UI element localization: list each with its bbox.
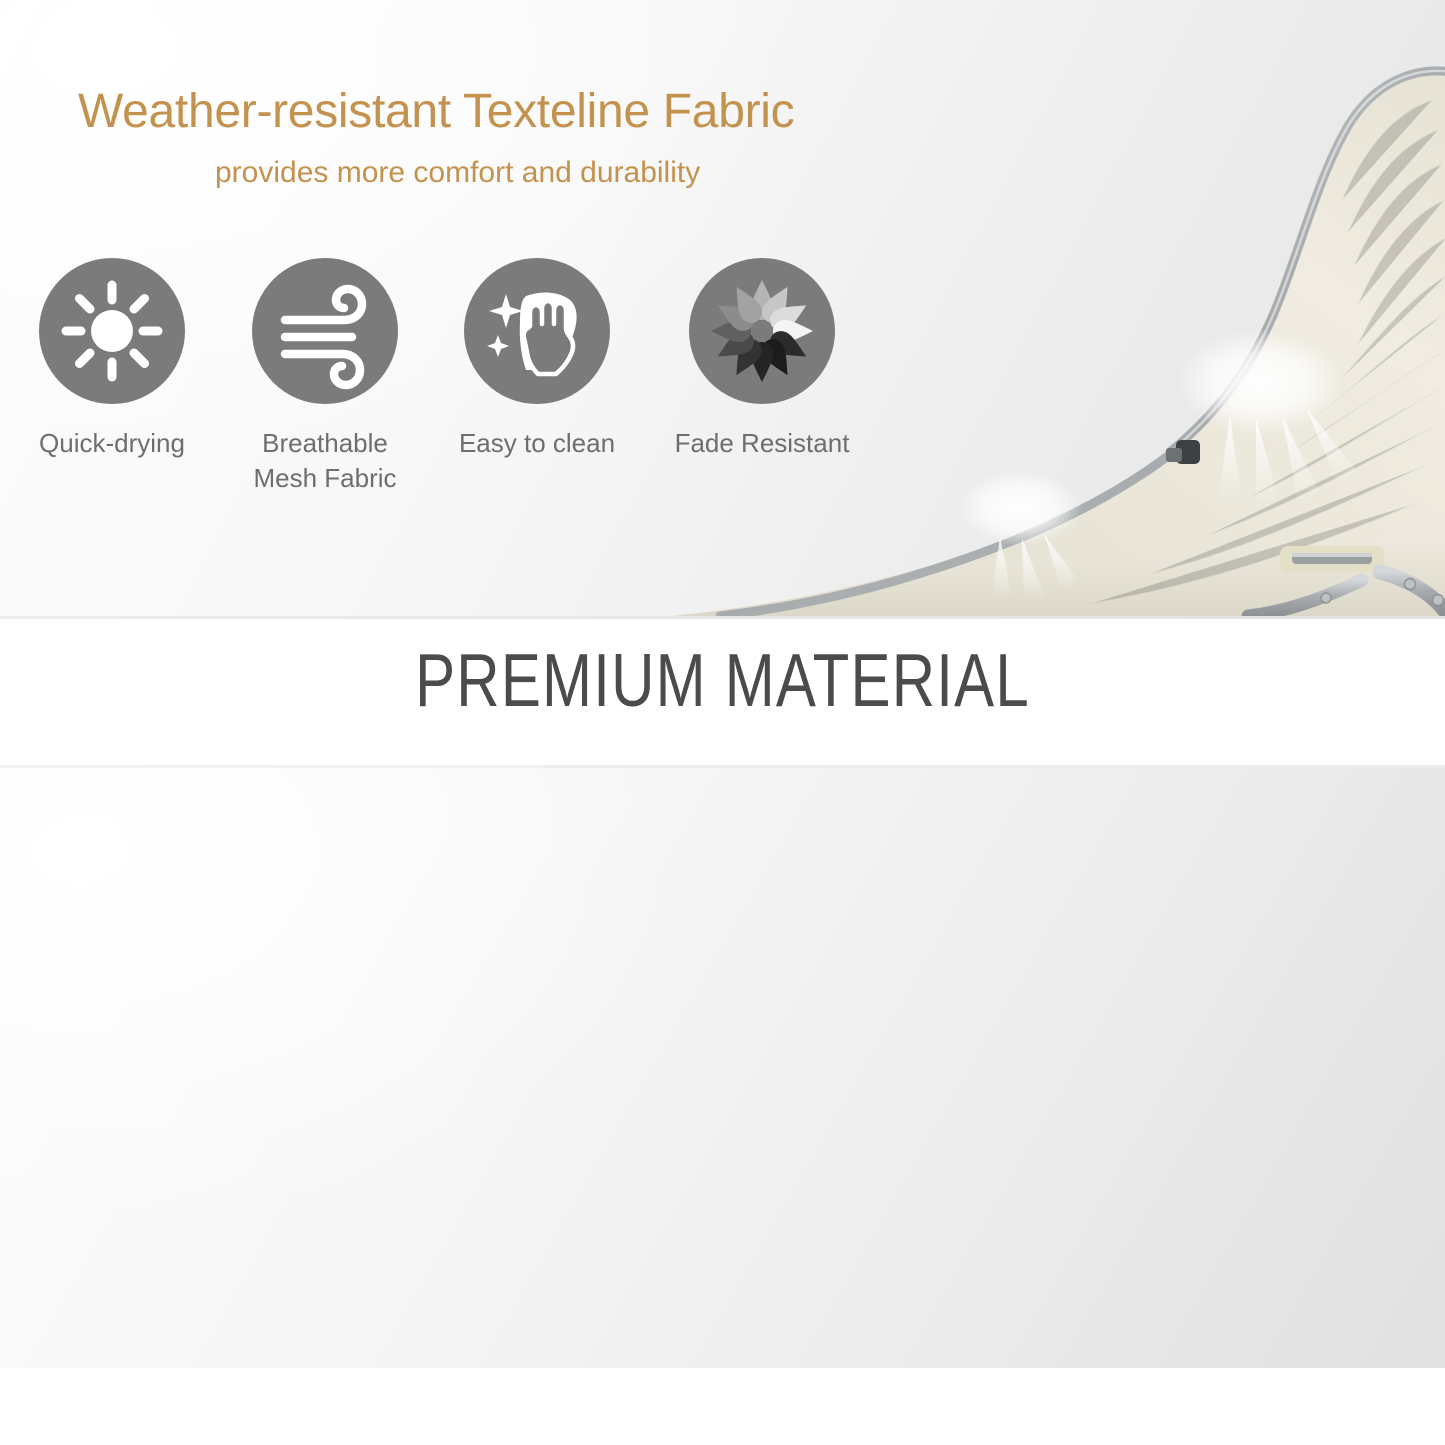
banner-title: PREMIUM MATERIAL — [145, 637, 1301, 723]
section-frame: Durable Aluminum Frame for easy carry an… — [0, 768, 1445, 1368]
sun-icon — [39, 258, 185, 404]
feature-easy-to-clean[interactable]: Easy to clean — [447, 258, 627, 461]
section-fabric: Weather-resistant Texteline Fabric provi… — [0, 0, 1445, 616]
fabric-subline: provides more comfort and durability — [215, 156, 700, 190]
hand-wipe-sparkle-icon — [464, 258, 610, 404]
fabric-headline: Weather-resistant Texteline Fabric — [78, 84, 794, 139]
page-footer-space — [0, 1368, 1445, 1445]
feature-label: Fade Resistant — [672, 426, 852, 461]
fabric-feature-row: Quick-drying Breathab — [0, 258, 900, 518]
feature-label: Easy to clean — [447, 426, 627, 461]
infographic-page: Weather-resistant Texteline Fabric provi… — [0, 0, 1445, 1445]
feature-label: Quick-drying — [22, 426, 202, 461]
feature-fade-resistant[interactable]: Fade Resistant — [672, 258, 852, 461]
feature-quick-drying[interactable]: Quick-drying — [22, 258, 202, 461]
feature-breathable-mesh[interactable]: BreathableMesh Fabric — [235, 258, 415, 495]
color-fade-petals-icon — [689, 258, 835, 404]
feature-label: BreathableMesh Fabric — [235, 426, 415, 495]
wind-icon — [252, 258, 398, 404]
